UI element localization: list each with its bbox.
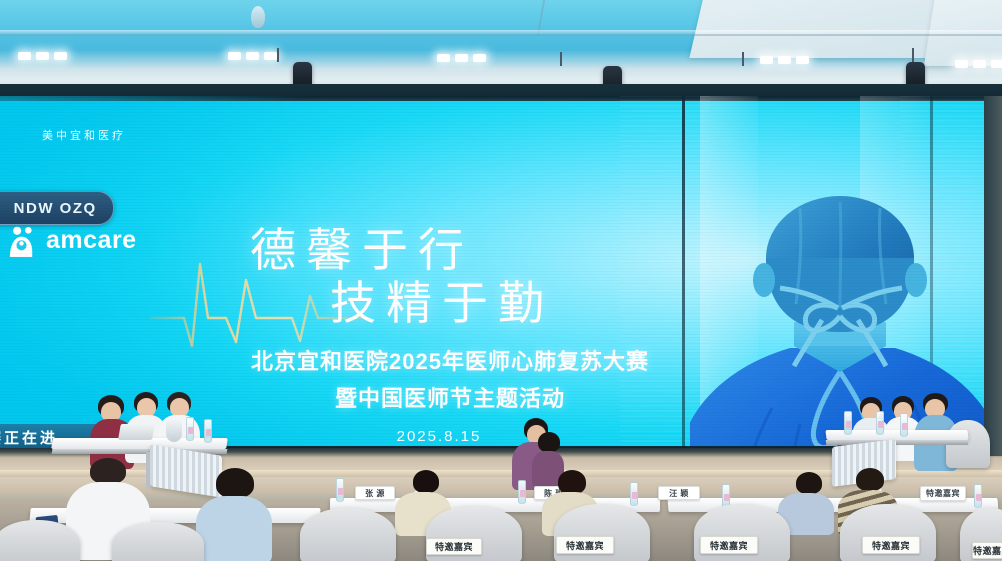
screen-title-block: 德馨于行 技精于勤 北京宜和医院2025年医师心肺复苏大赛 暨中国医师节主题活动… <box>250 224 650 445</box>
bottle-row1-3 <box>518 480 526 504</box>
bottle-row1-4 <box>630 482 638 506</box>
chair-card-1: 特邀嘉宾 <box>426 538 482 555</box>
chair-foreground-2 <box>112 522 204 561</box>
ceiling-light-group-4 <box>760 56 809 64</box>
ceiling-light-group-5 <box>955 60 1002 68</box>
name-card-4-text: 特邀嘉宾 <box>926 488 960 499</box>
led-panel-divider <box>682 96 685 452</box>
conference-hall-screenshot: 码： NDW OZQ amcare 美中宜和医疗 德馨于行 技精于勤 北京宜和医… <box>0 0 1002 561</box>
chair-card-5: 特邀嘉宾 <box>972 542 1002 559</box>
name-card-3-text: 汪 颖 <box>669 488 689 499</box>
attendee-striped-hair <box>856 468 884 491</box>
ceiling-light-group-2 <box>228 52 277 60</box>
attendee-light-blue <box>196 468 274 561</box>
amcare-family-mark-icon <box>6 224 39 257</box>
screen-subtitle-line-1: 北京宜和医院2025年医师心肺复苏大赛 <box>250 344 650 376</box>
amcare-chinese-name: 美中宜和医疗 <box>42 127 126 143</box>
ceiling <box>0 0 1002 96</box>
name-card-1-text: 张 源 <box>365 488 385 499</box>
screen-event-date: 2025.8.15 <box>250 428 650 445</box>
attendee-white-shirt-hair <box>90 458 126 484</box>
chair-card-4: 特邀嘉宾 <box>862 536 920 554</box>
vase-judges-left <box>166 420 182 442</box>
chair-card-1-text: 特邀嘉宾 <box>435 540 473 553</box>
center-staff-2-hair <box>538 432 560 452</box>
amcare-wordmark: amcare <box>46 228 137 253</box>
ceiling-rod-1 <box>277 48 279 62</box>
name-card-1: 张 源 <box>355 486 395 500</box>
bottle-judges-right-3 <box>900 413 908 437</box>
chair-foreground-3 <box>300 508 396 561</box>
bottle-judges-left-2 <box>204 419 212 443</box>
attendee-light-blue-hair <box>216 468 254 498</box>
screen-code-pill: 码： NDW OZQ <box>0 191 114 225</box>
bottle-judges-right-2 <box>876 411 884 435</box>
chair-card-5-text: 特邀嘉宾 <box>973 544 1002 557</box>
left-side-banner-text: 赛正在进 <box>0 427 58 448</box>
screen-title-line-1: 德馨于行 <box>250 224 650 277</box>
attendee-light-blue-body <box>196 496 272 561</box>
chair-card-2-text: 特邀嘉宾 <box>566 539 604 552</box>
chair-foreground-1 <box>0 520 80 561</box>
ceiling-light-group-3 <box>437 54 486 62</box>
name-card-4: 特邀嘉宾 <box>920 486 966 501</box>
chair-card-4-text: 特邀嘉宾 <box>872 539 910 552</box>
attendee-cream-1-hair <box>413 470 439 493</box>
chair-card-3-text: 特邀嘉宾 <box>710 539 748 552</box>
bottle-row1-7 <box>974 484 982 508</box>
ceiling-rod-3 <box>742 52 744 66</box>
bottle-row1-1 <box>336 478 344 502</box>
chair-card-2: 特邀嘉宾 <box>556 536 614 554</box>
ceiling-rod-2 <box>560 52 562 66</box>
bottle-judges-left-1 <box>186 417 194 441</box>
screen-subtitle-line-2: 暨中国医师节主题活动 <box>250 381 650 413</box>
ceiling-light-group-1 <box>18 52 67 60</box>
ceiling-soffit-glow <box>0 30 1002 35</box>
laptop-judges-left <box>118 424 155 440</box>
amcare-logo: amcare <box>6 224 137 257</box>
bottle-judges-right-1 <box>844 411 852 435</box>
attendee-blue-shirt-hair <box>796 472 822 494</box>
name-card-3: 汪 颖 <box>658 486 700 500</box>
chair-card-3: 特邀嘉宾 <box>700 536 758 554</box>
wall-right-column <box>984 96 1002 456</box>
attendee-cream-2-hair <box>558 470 586 494</box>
smoke-detector <box>251 6 265 28</box>
screen-title-line-2: 技精于勤 <box>250 277 650 330</box>
